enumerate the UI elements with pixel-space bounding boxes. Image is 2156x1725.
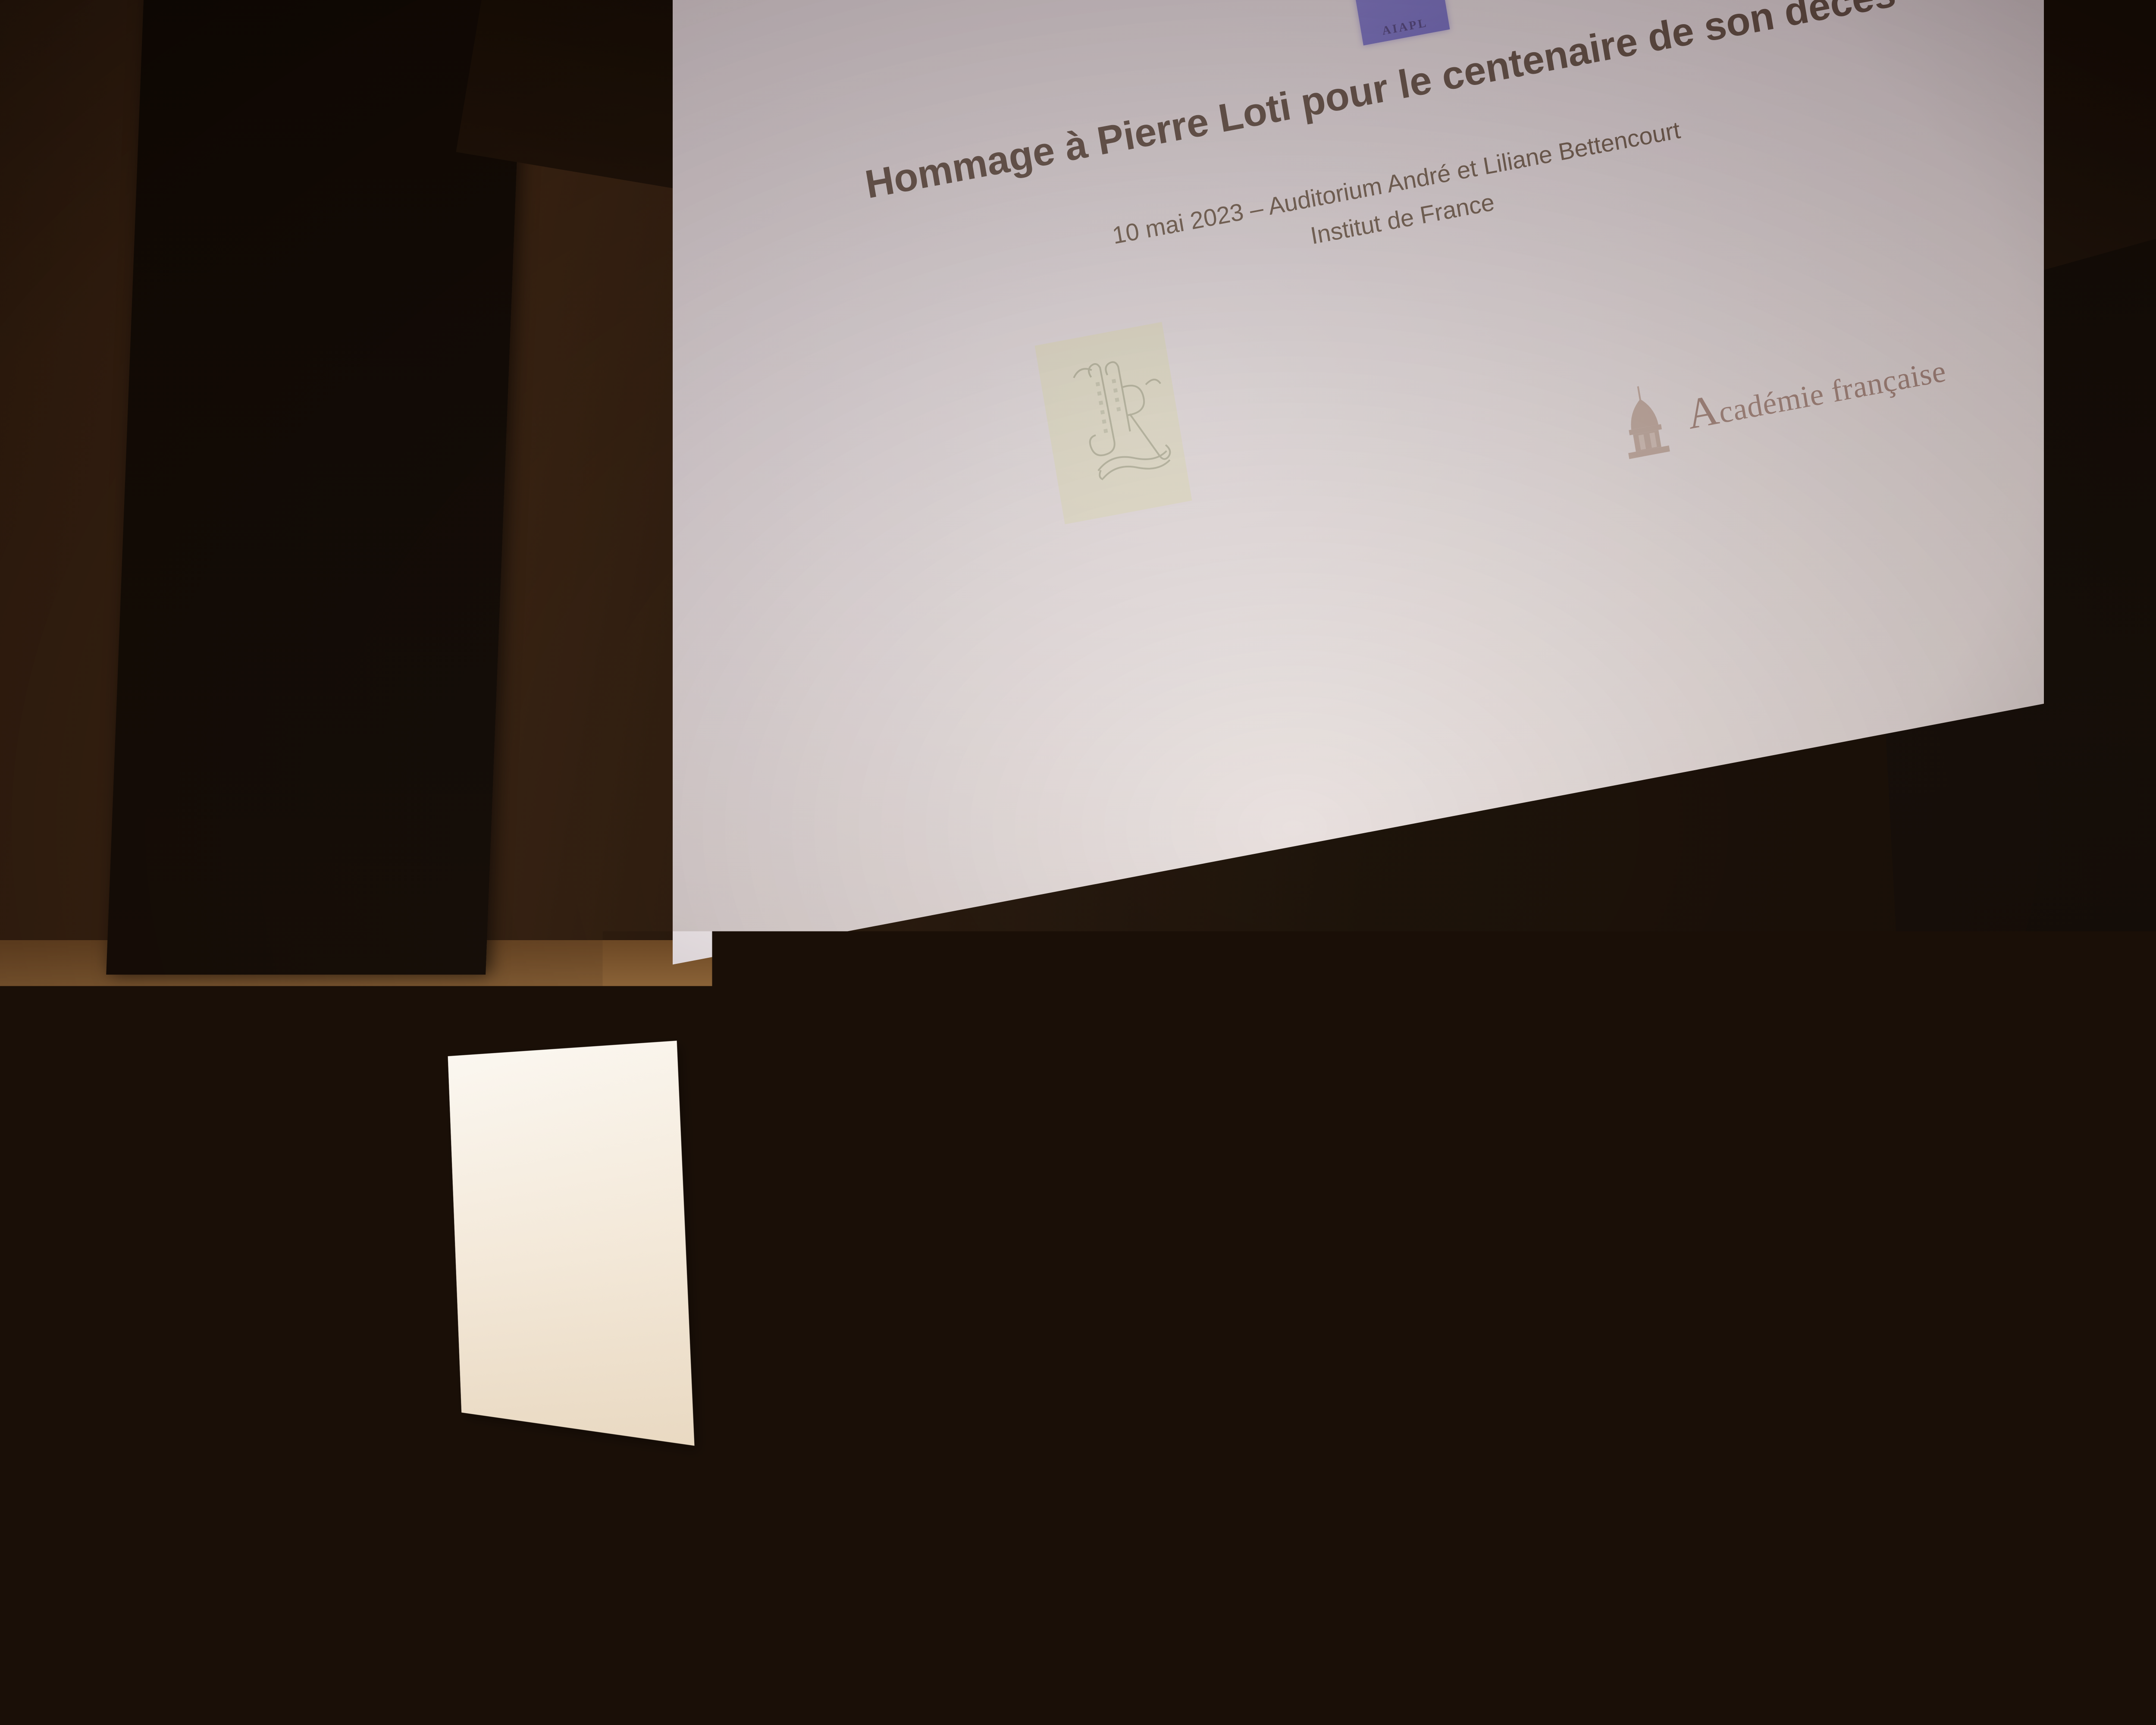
name-badge: [1602, 1334, 1623, 1345]
auditorium-scene: TION INTERNATIONALE DES AMIS DE PIERRE L…: [0, 0, 2156, 1725]
stone-seam: [1121, 1048, 1122, 1328]
academie-rest: cadémie française: [1716, 353, 1949, 430]
water-bottle-icon[interactable]: [1992, 1320, 2010, 1405]
pierre-loti-monogram: [1035, 322, 1192, 524]
institut-dome-icon: [1606, 376, 1683, 469]
stone-seam: [0, 1048, 2156, 1049]
academie-initial: A: [1683, 385, 1722, 438]
academie-francaise-logo: Académie française: [1606, 326, 1952, 469]
podium-sign-logo: [1449, 1251, 1463, 1276]
aiapl-logo: AIAPL: [1344, 0, 1450, 45]
academie-francaise-text: Académie française: [1683, 342, 1949, 439]
speaker-face: [1203, 1151, 1258, 1212]
water-bottle-icon[interactable]: [1835, 1350, 1852, 1432]
speaker-arm: [1158, 1237, 1206, 1368]
drinking-glass-icon[interactable]: [1862, 1393, 1877, 1433]
pierre-loti-portrait: [1355, 1316, 1398, 1423]
speaker-shoes: [1194, 1662, 1273, 1693]
presentation-slide: TION INTERNATIONALE DES AMIS DE PIERRE L…: [673, 0, 2044, 943]
easel-board: [448, 1041, 695, 1446]
projection-screen: TION INTERNATIONALE DES AMIS DE PIERRE L…: [673, 0, 2044, 1013]
aiapl-logo-label: AIAPL: [1360, 13, 1449, 42]
speaker-skirt: [1181, 1371, 1284, 1574]
guest-glasses: [1568, 1278, 1596, 1285]
guest-top: [1570, 1308, 1606, 1398]
stone-seam: [0, 1160, 2156, 1161]
